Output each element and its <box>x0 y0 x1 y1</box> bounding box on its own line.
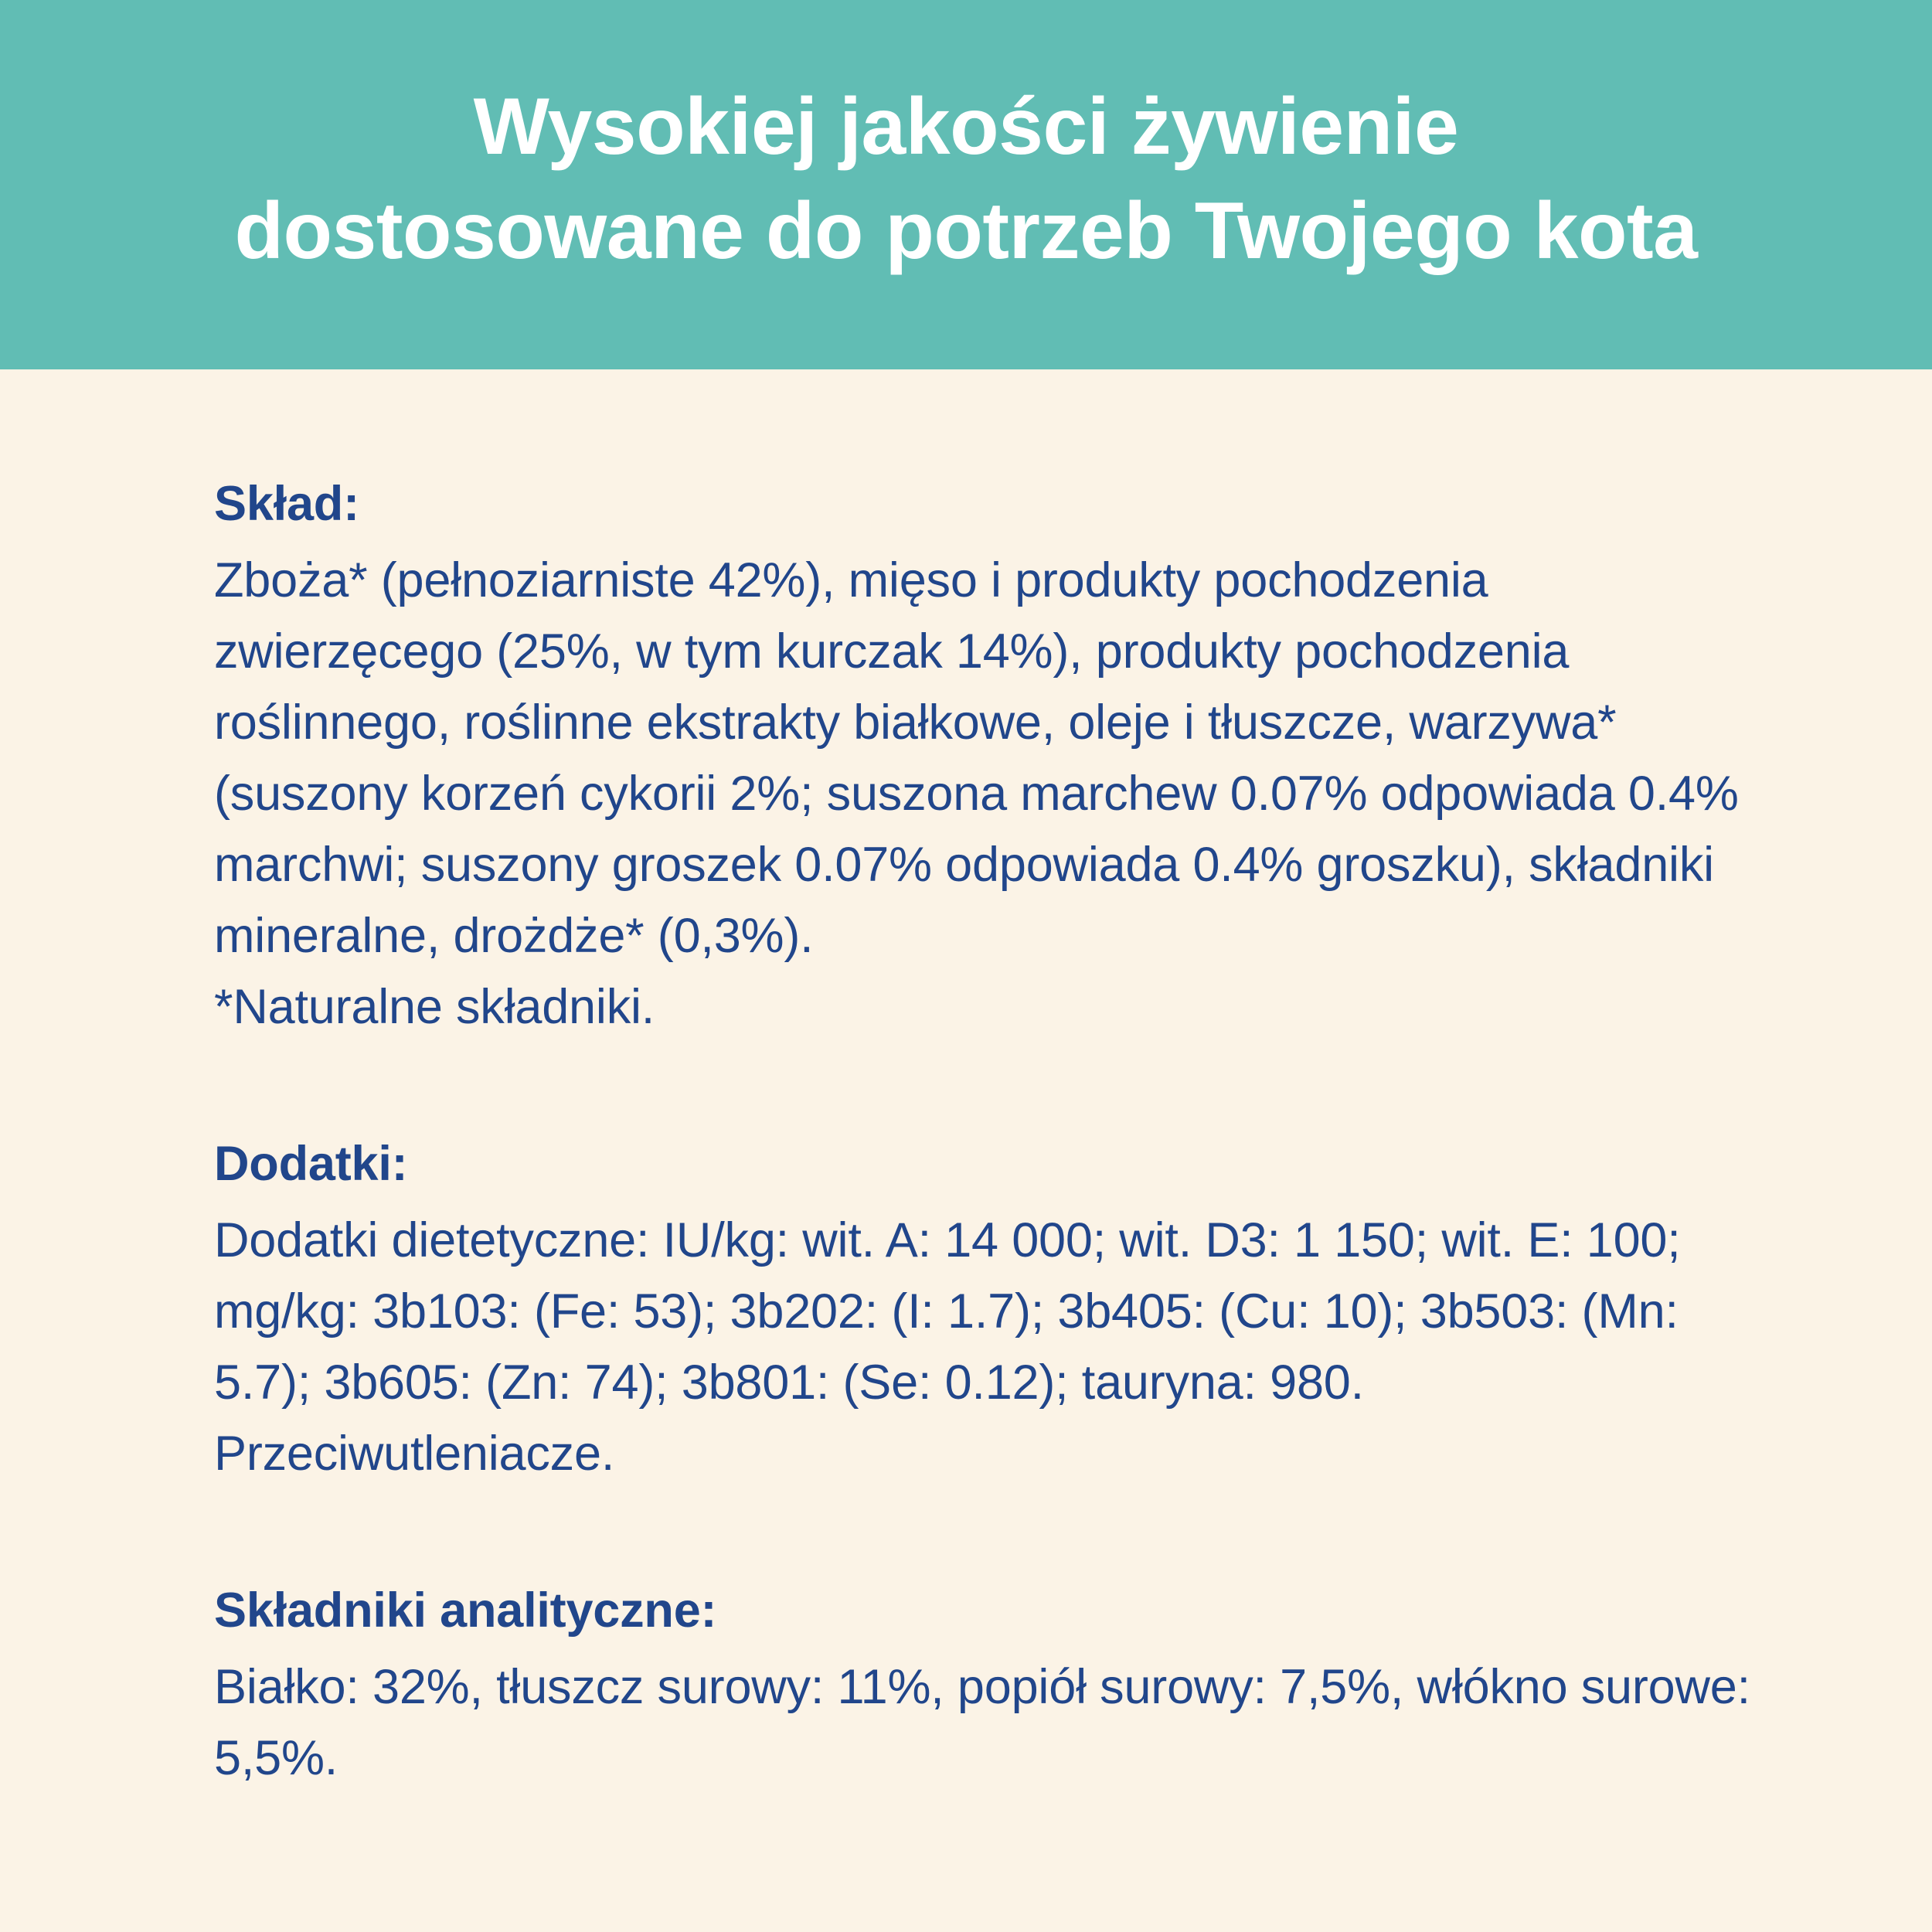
additives-detail-text: Dodatki dietetyczne: IU/kg: wit. A: 14 0… <box>214 1206 1754 1490</box>
header-banner: Wysokiej jakości żywienie dostosowane do… <box>0 0 1932 369</box>
section-additives-heading: Dodatki: <box>214 1130 1754 1198</box>
page-title: Wysokiej jakości żywienie dostosowane do… <box>193 75 1739 294</box>
section-composition: Skład: Zboża* (pełnoziarniste 42%), mięs… <box>214 470 1754 1043</box>
section-composition-body: Zboża* (pełnoziarniste 42%), mięso i pro… <box>214 546 1754 1043</box>
section-analytical-constituents: Składniki analityczne: Białko: 32%, tłus… <box>214 1577 1754 1794</box>
analytical-constituents-text: Białko: 32%, tłuszcz surowy: 11%, popiół… <box>214 1652 1754 1794</box>
product-info-page: Wysokiej jakości żywienie dostosowane do… <box>0 0 1932 1932</box>
section-analytical-constituents-heading: Składniki analityczne: <box>214 1577 1754 1645</box>
page-title-line-2: dostosowane do potrzeb Twojego kota <box>193 179 1739 284</box>
composition-ingredients-text: Zboża* (pełnoziarniste 42%), mięso i pro… <box>214 546 1754 972</box>
composition-footnote-text: *Naturalne składniki. <box>214 972 1754 1043</box>
section-composition-heading: Skład: <box>214 470 1754 538</box>
section-additives-body: Dodatki dietetyczne: IU/kg: wit. A: 14 0… <box>214 1206 1754 1490</box>
section-additives: Dodatki: Dodatki dietetyczne: IU/kg: wit… <box>214 1130 1754 1490</box>
page-title-line-1: Wysokiej jakości żywienie <box>193 75 1739 179</box>
section-analytical-constituents-body: Białko: 32%, tłuszcz surowy: 11%, popiół… <box>214 1652 1754 1794</box>
product-details: Skład: Zboża* (pełnoziarniste 42%), mięs… <box>0 369 1932 1932</box>
